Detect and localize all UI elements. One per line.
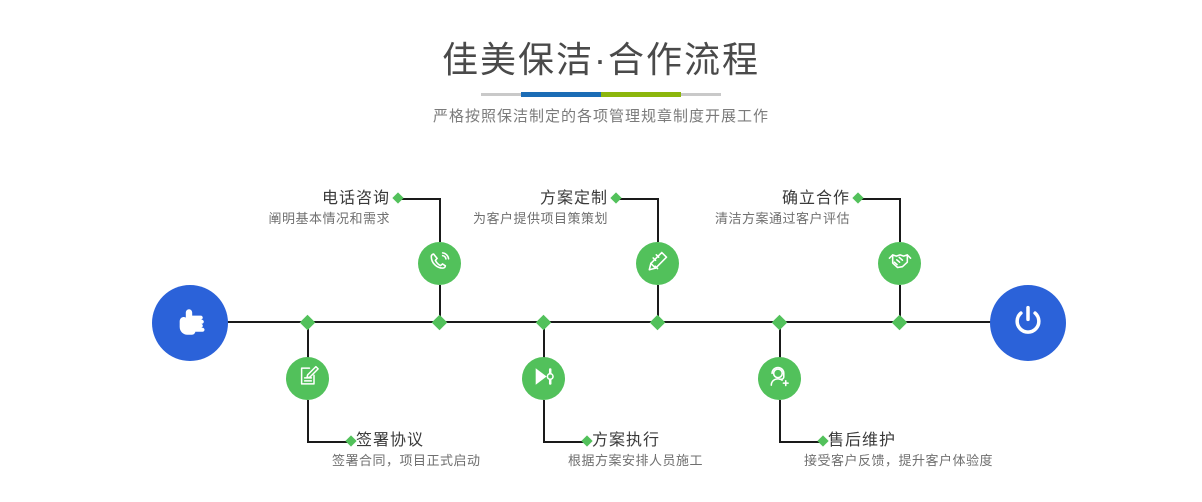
page-title: 佳美保洁·合作流程 (0, 38, 1202, 82)
axis-node-marker-4 (536, 315, 552, 331)
step-desc-4: 根据方案安排人员施工 (568, 451, 842, 471)
phone-call-icon (427, 249, 452, 279)
step-node-1[interactable] (418, 242, 461, 285)
page-subtitle: 严格按照保洁制定的各项管理规章制度开展工作 (0, 106, 1202, 128)
step-title-2: 签署协议 (356, 430, 606, 451)
axis-node-marker-3 (650, 315, 666, 331)
step-node-4[interactable] (522, 357, 565, 400)
step-title-1: 电话咨询 (150, 188, 390, 209)
axis-node-marker-6 (772, 315, 788, 331)
step-node-6[interactable] (758, 357, 801, 400)
step-node-3[interactable] (636, 242, 679, 285)
step-node-2[interactable] (286, 357, 329, 400)
step-label-1: 电话咨询 阐明基本情况和需求 (150, 188, 390, 229)
headset-support-icon (767, 364, 792, 394)
handshake-icon (887, 248, 913, 279)
end-endpoint[interactable] (990, 285, 1066, 361)
step-desc-6: 接受客户反馈，提升客户体验度 (804, 451, 1088, 471)
connector-horizontal-step-5 (858, 198, 901, 200)
cooperation-process-infographic: 佳美保洁·合作流程 严格按照保洁制定的各项管理规章制度开展工作 (0, 0, 1202, 502)
connector-vertical-step-2-bottom (307, 400, 309, 442)
title-divider (481, 93, 721, 96)
document-pen-icon (296, 364, 320, 393)
step-desc-1: 阐明基本情况和需求 (150, 209, 390, 229)
branch-marker-step-5 (852, 192, 863, 203)
play-execute-icon (531, 364, 556, 394)
step-title-3: 方案定制 (370, 188, 608, 209)
step-label-5: 确立合作 清洁方案通过客户评估 (610, 188, 850, 229)
pencil-ruler-icon (645, 249, 670, 279)
power-button-icon (1008, 301, 1048, 346)
step-title-5: 确立合作 (610, 188, 850, 209)
divider-segment-green (601, 92, 681, 97)
pointing-hand-icon (169, 300, 211, 347)
connector-vertical-step-5-top (899, 198, 901, 242)
step-label-6: 售后维护 接受客户反馈，提升客户体验度 (828, 430, 1088, 471)
step-desc-2: 签署合同，项目正式启动 (332, 451, 606, 471)
timeline-axis (215, 321, 997, 323)
header: 佳美保洁·合作流程 (0, 0, 1202, 82)
connector-horizontal-step-2 (307, 441, 351, 443)
step-label-3: 方案定制 为客户提供项目策策划 (370, 188, 608, 229)
axis-node-marker-5 (892, 315, 908, 331)
start-endpoint[interactable] (152, 285, 228, 361)
step-desc-5: 清洁方案通过客户评估 (610, 209, 850, 229)
step-desc-3: 为客户提供项目策策划 (370, 209, 608, 229)
axis-node-marker-1 (432, 315, 448, 331)
branch-marker-step-2 (345, 435, 356, 446)
axis-node-marker-2 (300, 315, 316, 331)
divider-segment-blue (521, 92, 601, 97)
step-title-6: 售后维护 (828, 430, 1088, 451)
step-title-4: 方案执行 (592, 430, 842, 451)
step-node-5[interactable] (878, 242, 921, 285)
